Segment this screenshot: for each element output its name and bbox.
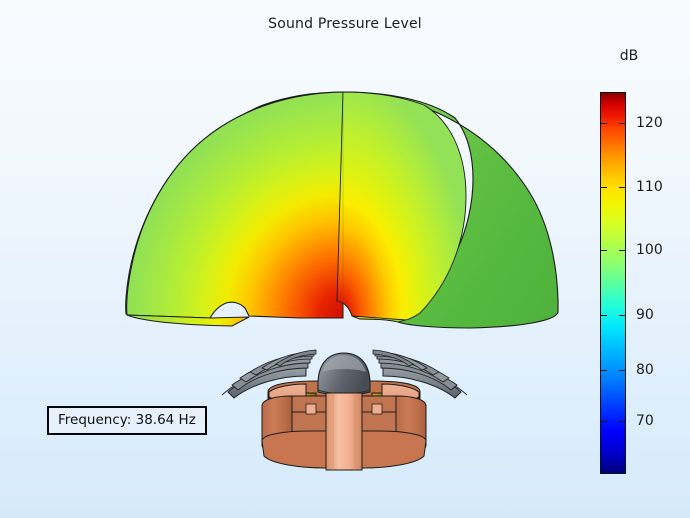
colorbar-tick-label: 90 bbox=[636, 307, 654, 323]
colorbar-unit-label: dB bbox=[598, 48, 660, 64]
colorbar-tick-label: 70 bbox=[636, 413, 654, 429]
colorbar-tick-mark bbox=[600, 370, 607, 371]
colorbar-tick-mark bbox=[619, 421, 626, 422]
colorbar-tick-mark bbox=[600, 187, 607, 188]
colorbar-gradient bbox=[600, 92, 626, 474]
colorbar-tick-mark bbox=[619, 187, 626, 188]
colorbar-tick-mark bbox=[600, 250, 607, 251]
dome-cut-plane-left bbox=[127, 92, 343, 318]
acoustic-simulation-scene bbox=[0, 0, 690, 518]
bottom-plate-right bbox=[362, 431, 426, 468]
bottom-plate-left bbox=[262, 431, 326, 468]
colorbar-tick-label: 120 bbox=[636, 115, 663, 131]
colorbar-tick-mark bbox=[619, 370, 626, 371]
frequency-annotation: Frequency: 38.64 Hz bbox=[47, 406, 207, 435]
loudspeaker-driver bbox=[222, 350, 467, 470]
pole-piece bbox=[326, 393, 362, 470]
dust-cap bbox=[318, 353, 370, 395]
colorbar-tick-label: 100 bbox=[636, 242, 663, 258]
colorbar-tick-mark bbox=[600, 421, 607, 422]
colorbar[interactable]: 120 110 100 90 80 70 bbox=[600, 92, 688, 474]
colorbar-tick-mark bbox=[600, 315, 607, 316]
colorbar-tick-mark bbox=[600, 123, 607, 124]
colorbar-tick-mark bbox=[619, 250, 626, 251]
colorbar-tick-label: 110 bbox=[636, 179, 663, 195]
colorbar-tick-mark bbox=[619, 123, 626, 124]
plot-canvas: Sound Pressure Level bbox=[0, 0, 690, 518]
colorbar-tick-label: 80 bbox=[636, 362, 654, 378]
colorbar-tick-mark bbox=[619, 315, 626, 316]
